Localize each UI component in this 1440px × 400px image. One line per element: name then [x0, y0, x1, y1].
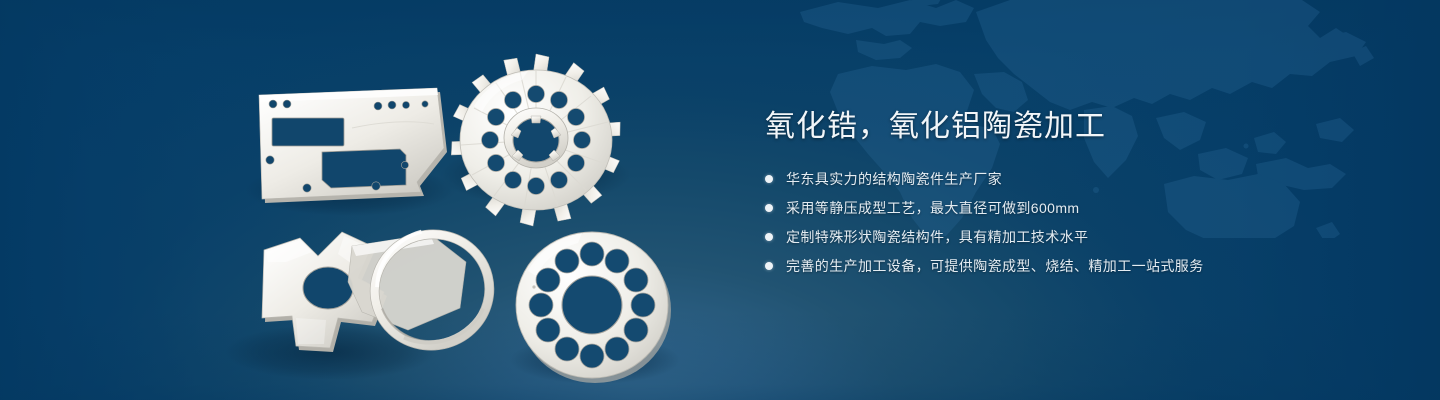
- ceramic-products-image: [0, 0, 720, 400]
- list-item: 定制特殊形状陶瓷结构件，具有精加工技术水平: [765, 226, 1325, 248]
- list-item-label: 采用等静压成型工艺，最大直径可做到600mm: [786, 198, 1079, 218]
- list-item: 华东具实力的结构陶瓷件生产厂家: [765, 168, 1325, 190]
- bullet-dot-icon: [765, 204, 773, 212]
- page-title: 氧化锆，氧化铝陶瓷加工: [765, 108, 1325, 146]
- ceramic-mounting-plate: [259, 88, 447, 203]
- banner-text-column: 氧化锆，氧化铝陶瓷加工 华东具实力的结构陶瓷件生产厂家 采用等静压成型工艺，最大…: [765, 108, 1325, 284]
- list-item-label: 华东具实力的结构陶瓷件生产厂家: [786, 169, 1002, 189]
- list-item: 完善的生产加工设备，可提供陶瓷成型、烧结、精加工一站式服务: [765, 255, 1325, 277]
- ceramic-impeller-disc: [449, 54, 623, 226]
- feature-list: 华东具实力的结构陶瓷件生产厂家 采用等静压成型工艺，最大直径可做到600mm 定…: [765, 168, 1325, 277]
- bullet-dot-icon: [765, 233, 773, 241]
- bullet-dot-icon: [765, 262, 773, 270]
- list-item-label: 完善的生产加工设备，可提供陶瓷成型、烧结、精加工一站式服务: [786, 256, 1204, 276]
- bullet-dot-icon: [765, 175, 773, 183]
- list-item: 采用等静压成型工艺，最大直径可做到600mm: [765, 197, 1325, 219]
- list-item-label: 定制特殊形状陶瓷结构件，具有精加工技术水平: [786, 227, 1088, 247]
- promo-banner: 氧化锆，氧化铝陶瓷加工 华东具实力的结构陶瓷件生产厂家 采用等静压成型工艺，最大…: [0, 0, 1440, 400]
